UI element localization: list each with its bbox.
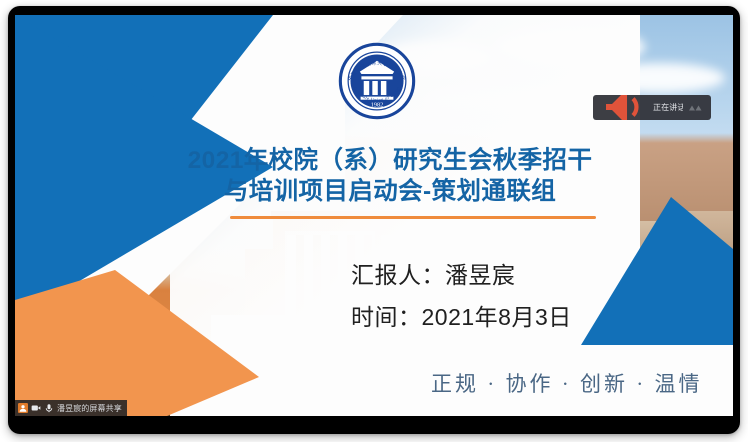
date-line: 时间：2021年8月3日 (351, 296, 572, 338)
title-underline-rule (230, 216, 596, 219)
presentation-slide: 1982 中国科学技术大学研究生会 Graduate Union of USTC (15, 15, 733, 416)
share-window-frame: 1982 中国科学技术大学研究生会 Graduate Union of USTC (8, 6, 740, 434)
share-badge-label: 潘昱宸的屏幕共享 (57, 403, 122, 414)
microphone-icon (44, 403, 54, 413)
speaking-icon (600, 95, 648, 120)
presenter-line: 汇报人：潘昱宸 (351, 254, 572, 296)
title-line-1: 2021年校院（系）研究生会秋季招干 (165, 145, 615, 176)
participant-icon (18, 403, 28, 413)
ustc-graduate-union-seal-icon: 1982 中国科学技术大学研究生会 Graduate Union of USTC (338, 42, 416, 120)
active-speaker-label: 正在讲话：潘昱宸 (653, 102, 683, 113)
screenshot-root: 1982 中国科学技术大学研究生会 Graduate Union of USTC (0, 0, 748, 442)
screen-share-badge: 潘昱宸的屏幕共享 (15, 400, 127, 416)
slide-title: 2021年校院（系）研究生会秋季招干 与培训项目启动会-策划通联组 (165, 145, 615, 207)
active-speaker-toast: 正在讲话：潘昱宸 (593, 95, 711, 120)
camera-icon (31, 403, 41, 413)
slide-motto: 正规 · 协作 · 创新 · 温情 (431, 368, 702, 398)
title-line-2: 与培训项目启动会-策划通联组 (165, 176, 615, 207)
slide-meta: 汇报人：潘昱宸 时间：2021年8月3日 (351, 254, 572, 338)
audio-wave-icon (688, 102, 704, 114)
